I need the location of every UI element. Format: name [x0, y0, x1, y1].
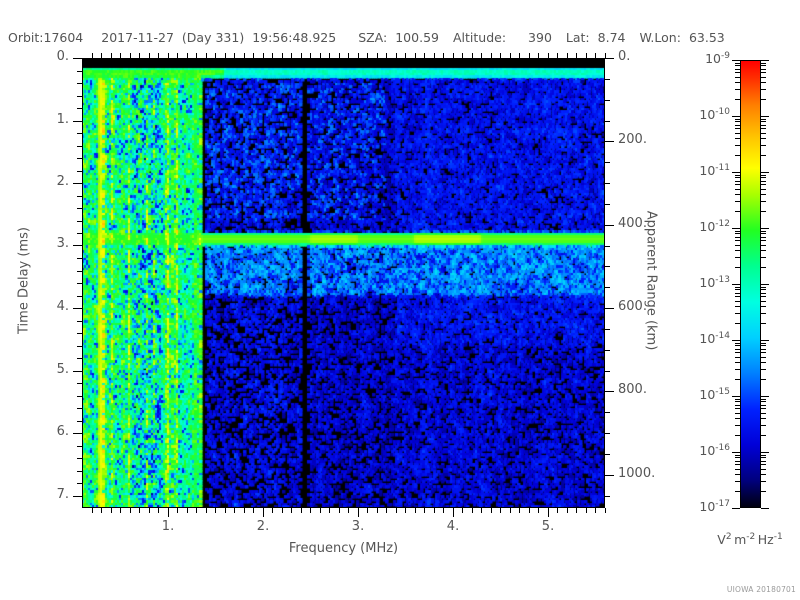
axis-tick [500, 508, 501, 513]
altitude-label: Altitude: [453, 30, 506, 45]
axis-tick [538, 508, 539, 513]
colorbar-minor-tick [735, 369, 740, 370]
axis-tick [605, 266, 610, 267]
y-tick-label: 5. [9, 362, 69, 377]
axis-tick [111, 53, 112, 58]
axis-tick [77, 96, 82, 97]
axis-tick [168, 508, 169, 517]
axis-tick [320, 53, 321, 58]
x-tick-label: 1. [138, 519, 198, 534]
axis-tick [77, 258, 82, 259]
colorbar-tick-exponent: -12 [715, 219, 730, 229]
axis-tick [548, 53, 549, 58]
axis-tick [77, 396, 82, 397]
axis-tick [605, 433, 610, 434]
colorbar-minor-tick [761, 287, 766, 288]
colorbar-minor-tick [761, 211, 766, 212]
colorbar-minor-tick [735, 469, 740, 470]
colorbar-minor-tick [735, 128, 740, 129]
altitude-value: 390 [528, 30, 552, 45]
axis-tick [196, 53, 197, 58]
colorbar-minor-tick [735, 481, 740, 482]
axis-tick [329, 508, 330, 513]
axis-tick [301, 53, 302, 58]
axis-tick [415, 53, 416, 58]
colorbar-minor-tick [761, 399, 766, 400]
axis-tick [77, 233, 82, 234]
axis-tick [586, 53, 587, 58]
colorbar-minor-tick [735, 181, 740, 182]
colorbar-tick-label: 10-14 [662, 331, 730, 346]
axis-tick [358, 508, 359, 517]
colorbar-minor-tick [761, 481, 766, 482]
axis-tick [605, 58, 614, 59]
axis-tick [605, 350, 610, 351]
axis-tick [576, 53, 577, 58]
axis-tick [386, 53, 387, 58]
colorbar-minor-tick [761, 125, 766, 126]
unit-m-exp: -2 [746, 532, 755, 542]
colorbar-minor-tick [735, 138, 740, 139]
axis-tick [77, 108, 82, 109]
colorbar-minor-tick [761, 175, 766, 176]
orbit-label: Orbit: [8, 30, 44, 45]
unit-v: V [717, 532, 726, 547]
sza-value: 100.59 [395, 30, 439, 45]
axis-tick [73, 433, 82, 434]
colorbar-minor-tick [735, 233, 740, 234]
colorbar-minor-tick [735, 121, 740, 122]
axis-tick [73, 496, 82, 497]
axis-tick [358, 53, 359, 58]
axis-tick [396, 508, 397, 513]
axis-tick [605, 454, 610, 455]
colorbar-minor-tick [761, 184, 766, 185]
colorbar-minor-tick [735, 435, 740, 436]
axis-tick [120, 508, 121, 513]
colorbar-tick-mantissa: 10 [699, 499, 715, 514]
heatmap-canvas [82, 58, 605, 508]
colorbar-minor-tick [761, 155, 766, 156]
axis-tick [234, 53, 235, 58]
colorbar-minor-tick [761, 119, 766, 120]
colorbar-tick-exponent: -16 [715, 443, 730, 453]
colorbar-minor-tick [735, 455, 740, 456]
y2-tick-label: 800. [618, 382, 647, 397]
colorbar-minor-tick [735, 201, 740, 202]
colorbar-minor-tick [761, 65, 766, 66]
axis-tick [73, 58, 82, 59]
colorbar-minor-tick [761, 401, 766, 402]
colorbar-tick-label: 10-10 [662, 107, 730, 122]
axis-tick [434, 53, 435, 58]
y2-tick-label: 200. [618, 132, 647, 147]
colorbar-minor-tick [761, 306, 766, 307]
axis-tick [77, 296, 82, 297]
axis-tick [605, 391, 614, 392]
axis-tick [453, 508, 454, 517]
x-tick-label: 3. [328, 519, 388, 534]
axis-tick [367, 508, 368, 513]
colorbar-tick-label: 10-15 [662, 387, 730, 402]
colorbar-tick [761, 172, 769, 173]
colorbar-minor-tick [761, 296, 766, 297]
axis-tick [500, 53, 501, 58]
y-tick-label: 2. [9, 174, 69, 189]
colorbar-minor-tick [735, 289, 740, 290]
axis-tick [225, 53, 226, 58]
colorbar-minor-tick [761, 194, 766, 195]
colorbar-minor-tick [761, 405, 766, 406]
axis-tick [415, 508, 416, 513]
axis-tick [443, 53, 444, 58]
colorbar-minor-tick [761, 289, 766, 290]
colorbar-minor-tick [761, 413, 766, 414]
axis-tick [605, 308, 614, 309]
x-tick-label: 4. [423, 519, 483, 534]
colorbar-minor-tick [761, 425, 766, 426]
colorbar-minor-tick [735, 72, 740, 73]
colorbar [740, 60, 761, 508]
y-tick-label: 7. [9, 487, 69, 502]
axis-tick [77, 158, 82, 159]
colorbar-tick-label: 10-12 [662, 219, 730, 234]
axis-tick [329, 53, 330, 58]
colorbar-minor-tick [761, 138, 766, 139]
axis-tick [605, 287, 610, 288]
colorbar-minor-tick [735, 155, 740, 156]
axis-tick [77, 446, 82, 447]
axis-tick [605, 183, 610, 184]
ionogram-figure: Orbit:176042017-11-27(Day 331)19:56:48.9… [0, 0, 800, 600]
colorbar-minor-tick [761, 435, 766, 436]
colorbar-minor-tick [761, 349, 766, 350]
axis-tick [339, 53, 340, 58]
axis-tick [405, 508, 406, 513]
colorbar-minor-tick [735, 250, 740, 251]
y2-tick-label: 0. [618, 49, 630, 64]
colorbar-tick [761, 340, 769, 341]
axis-tick [557, 508, 558, 513]
unit-m: m [734, 532, 746, 547]
axis-tick [244, 508, 245, 513]
axis-tick [149, 53, 150, 58]
y2-axis-title: Apparent Range (km) [644, 201, 659, 361]
axis-tick [605, 121, 610, 122]
x-tick-label: 2. [233, 519, 293, 534]
colorbar-minor-tick [761, 189, 766, 190]
y2-tick-label: 1000. [618, 466, 655, 481]
axis-tick [605, 246, 610, 247]
axis-tick [605, 496, 610, 497]
axis-tick [434, 508, 435, 513]
colorbar-tick [732, 508, 740, 509]
axis-tick [77, 208, 82, 209]
axis-tick [77, 458, 82, 459]
axis-tick [111, 508, 112, 513]
axis-tick [187, 53, 188, 58]
axis-tick [187, 508, 188, 513]
colorbar-tick [732, 452, 740, 453]
colorbar-minor-tick [735, 189, 740, 190]
credit-footer: UIOWA 20180701 [727, 585, 796, 594]
colorbar-minor-tick [735, 461, 740, 462]
colorbar-minor-tick [761, 240, 766, 241]
axis-tick [443, 508, 444, 513]
axis-tick [377, 508, 378, 513]
colorbar-minor-tick [735, 211, 740, 212]
colorbar-tick-mantissa: 10 [705, 51, 721, 66]
axis-tick [282, 53, 283, 58]
axis-tick [519, 53, 520, 58]
axis-tick [605, 100, 610, 101]
colorbar-tick-exponent: -15 [715, 387, 730, 397]
axis-tick [73, 121, 82, 122]
colorbar-tick-mantissa: 10 [699, 387, 715, 402]
colorbar-minor-tick [761, 250, 766, 251]
colorbar-minor-tick [735, 89, 740, 90]
colorbar-minor-tick [761, 491, 766, 492]
colorbar-minor-tick [735, 175, 740, 176]
colorbar-minor-tick [761, 457, 766, 458]
axis-tick [206, 53, 207, 58]
axis-tick [605, 162, 610, 163]
axis-tick [234, 508, 235, 513]
colorbar-tick [732, 340, 740, 341]
axis-tick [77, 283, 82, 284]
sza-label: SZA: [358, 30, 387, 45]
axis-tick [510, 508, 511, 513]
axis-tick [595, 53, 596, 58]
axis-tick [139, 53, 140, 58]
colorbar-minor-tick [735, 287, 740, 288]
axis-tick [77, 408, 82, 409]
axis-tick [73, 183, 82, 184]
colorbar-minor-tick [761, 313, 766, 314]
axis-tick [301, 508, 302, 513]
axis-tick [215, 53, 216, 58]
axis-tick [291, 53, 292, 58]
axis-tick [567, 508, 568, 513]
axis-tick [206, 508, 207, 513]
figure-header: Orbit:176042017-11-27(Day 331)19:56:48.9… [8, 30, 794, 48]
colorbar-minor-tick [761, 77, 766, 78]
axis-tick [462, 53, 463, 58]
axis-tick [377, 53, 378, 58]
colorbar-tick-mantissa: 10 [699, 219, 715, 234]
axis-tick [519, 508, 520, 513]
axis-tick [348, 53, 349, 58]
colorbar-minor-tick [735, 237, 740, 238]
axis-tick [386, 508, 387, 513]
axis-tick [453, 53, 454, 58]
colorbar-tick [761, 452, 769, 453]
axis-tick [605, 79, 610, 80]
axis-tick [310, 508, 311, 513]
unit-hz-exp: -1 [774, 532, 783, 542]
colorbar-minor-tick [761, 233, 766, 234]
axis-tick [77, 133, 82, 134]
colorbar-minor-tick [761, 464, 766, 465]
y-axis-title: Time Delay (ms) [17, 211, 32, 351]
axis-tick [481, 508, 482, 513]
axis-tick [557, 53, 558, 58]
axis-tick [567, 53, 568, 58]
colorbar-tick-mantissa: 10 [699, 163, 715, 178]
colorbar-minor-tick [761, 267, 766, 268]
colorbar-minor-tick [761, 408, 766, 409]
axis-tick [348, 508, 349, 513]
colorbar-minor-tick [735, 194, 740, 195]
colorbar-minor-tick [761, 181, 766, 182]
axis-tick [605, 371, 610, 372]
colorbar-tick [761, 284, 769, 285]
colorbar-minor-tick [735, 82, 740, 83]
axis-tick [77, 471, 82, 472]
axis-tick [120, 53, 121, 58]
axis-tick [424, 53, 425, 58]
colorbar-minor-tick [735, 99, 740, 100]
colorbar-minor-tick [735, 418, 740, 419]
axis-tick [130, 508, 131, 513]
day-of-year: (Day 331) [182, 30, 244, 45]
colorbar-minor-tick [761, 231, 766, 232]
axis-tick [77, 358, 82, 359]
unit-hz: Hz [758, 532, 774, 547]
axis-tick [605, 508, 606, 513]
colorbar-minor-tick [761, 379, 766, 380]
colorbar-tick-mantissa: 10 [699, 275, 715, 290]
axis-tick [73, 371, 82, 372]
axis-tick [77, 383, 82, 384]
colorbar-minor-tick [761, 72, 766, 73]
axis-tick [272, 508, 273, 513]
colorbar-minor-tick [761, 343, 766, 344]
ionogram-heatmap [82, 58, 605, 508]
colorbar-minor-tick [735, 231, 740, 232]
colorbar-minor-tick [761, 455, 766, 456]
colorbar-tick [761, 508, 769, 509]
axis-tick [462, 508, 463, 513]
axis-tick [73, 308, 82, 309]
axis-tick [605, 141, 614, 142]
y-tick-label: 6. [9, 424, 69, 439]
axis-tick [405, 53, 406, 58]
colorbar-tick-exponent: -9 [721, 51, 730, 61]
colorbar-tick-label: 10-9 [662, 51, 730, 66]
colorbar-tick [761, 60, 769, 61]
axis-tick [77, 346, 82, 347]
colorbar-minor-tick [761, 63, 766, 64]
axis-tick [77, 196, 82, 197]
colorbar-minor-tick [735, 293, 740, 294]
observation-time: 19:56:48.925 [252, 30, 336, 45]
axis-tick [225, 508, 226, 513]
colorbar-minor-tick [735, 352, 740, 353]
axis-tick [272, 53, 273, 58]
axis-tick [77, 146, 82, 147]
axis-tick [605, 204, 610, 205]
colorbar-tick [732, 228, 740, 229]
axis-tick [282, 508, 283, 513]
axis-tick [605, 329, 610, 330]
axis-tick [253, 508, 254, 513]
axis-tick [77, 421, 82, 422]
colorbar-tick [732, 284, 740, 285]
x-tick-label: 5. [518, 519, 578, 534]
colorbar-minor-tick [761, 177, 766, 178]
colorbar-minor-tick [735, 240, 740, 241]
colorbar-tick-exponent: -10 [715, 107, 730, 117]
axis-tick [481, 53, 482, 58]
axis-tick [396, 53, 397, 58]
axis-tick [253, 53, 254, 58]
colorbar-minor-tick [735, 464, 740, 465]
axis-tick [510, 53, 511, 58]
axis-tick [77, 71, 82, 72]
axis-tick [139, 508, 140, 513]
colorbar-minor-tick [761, 145, 766, 146]
colorbar-minor-tick [735, 133, 740, 134]
axis-tick [77, 321, 82, 322]
colorbar-tick-exponent: -14 [715, 331, 730, 341]
axis-tick [538, 53, 539, 58]
colorbar-minor-tick [761, 474, 766, 475]
colorbar-tick-label: 10-11 [662, 163, 730, 178]
colorbar-minor-tick [735, 177, 740, 178]
axis-tick [320, 508, 321, 513]
colorbar-minor-tick [735, 399, 740, 400]
colorbar-minor-tick [735, 345, 740, 346]
colorbar-minor-tick [761, 418, 766, 419]
colorbar-minor-tick [735, 63, 740, 64]
colorbar-minor-tick [735, 362, 740, 363]
y-tick-label: 0. [9, 49, 69, 64]
axis-tick [548, 508, 549, 517]
axis-tick [244, 53, 245, 58]
colorbar-tick-exponent: -13 [715, 275, 730, 285]
colorbar-minor-tick [735, 77, 740, 78]
axis-tick [424, 508, 425, 513]
axis-tick [77, 333, 82, 334]
axis-tick [158, 53, 159, 58]
axis-tick [101, 53, 102, 58]
axis-tick [77, 171, 82, 172]
axis-tick [263, 508, 264, 517]
lat-label: Lat: [566, 30, 590, 45]
colorbar-tick [732, 396, 740, 397]
colorbar-minor-tick [761, 357, 766, 358]
colorbar-tick-mantissa: 10 [699, 331, 715, 346]
colorbar-tick-label: 10-16 [662, 443, 730, 458]
axis-tick [149, 508, 150, 513]
axis-tick [595, 508, 596, 513]
colorbar-tick [761, 396, 769, 397]
colorbar-minor-tick [735, 257, 740, 258]
colorbar-minor-tick [761, 201, 766, 202]
colorbar-minor-tick [735, 119, 740, 120]
axis-tick [77, 221, 82, 222]
axis-tick [472, 53, 473, 58]
wlon-label: W.Lon: [640, 30, 681, 45]
colorbar-minor-tick [735, 379, 740, 380]
colorbar-minor-tick [761, 99, 766, 100]
colorbar-minor-tick [735, 491, 740, 492]
axis-tick [73, 245, 82, 246]
colorbar-tick [761, 228, 769, 229]
colorbar-minor-tick [735, 306, 740, 307]
orbit-value: 17604 [44, 30, 84, 45]
